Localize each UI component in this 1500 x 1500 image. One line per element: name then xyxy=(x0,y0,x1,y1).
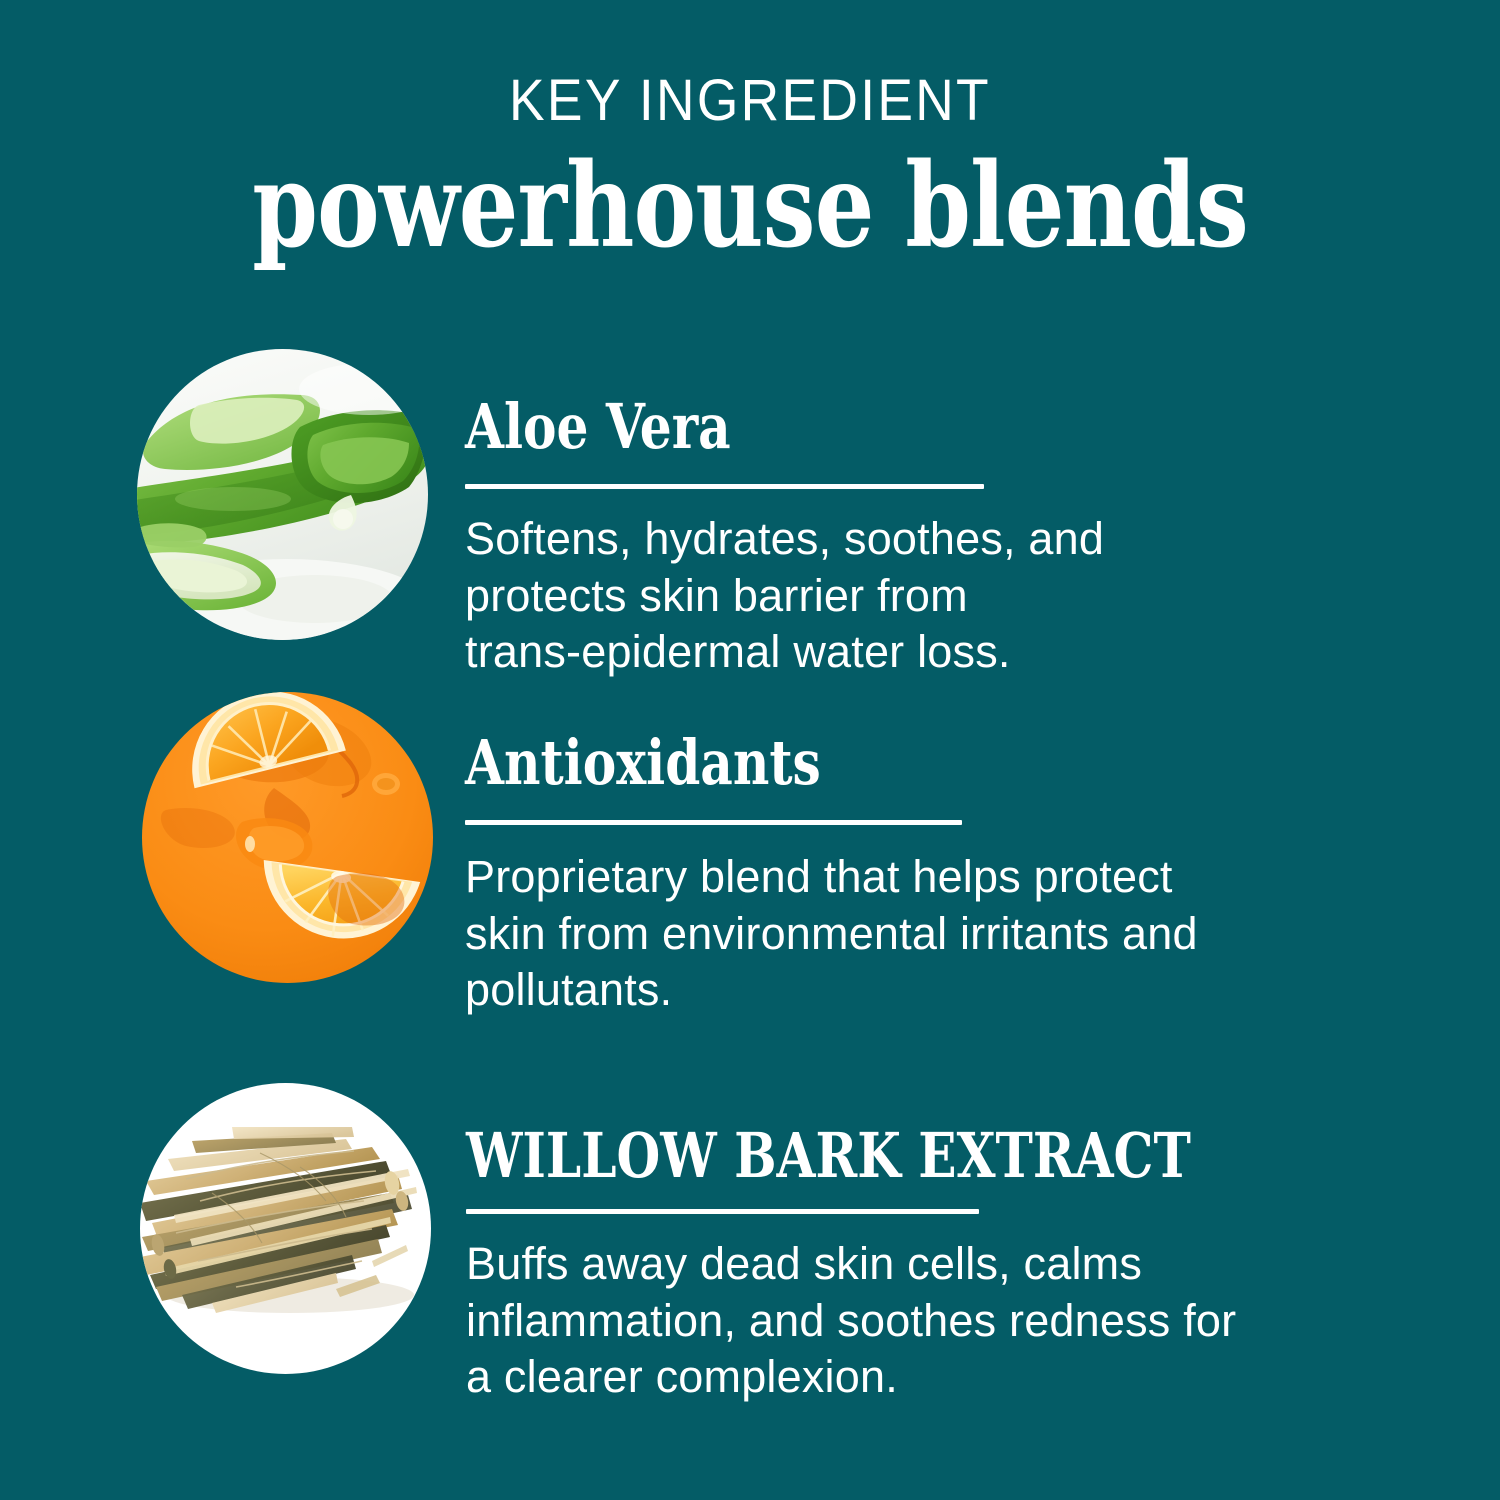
ingredient-description: Proprietary blend that helps protect ski… xyxy=(465,849,1198,1019)
ingredient-title: Aloe Vera xyxy=(465,396,1040,458)
willow-bark-photo xyxy=(140,1083,431,1374)
page-title: powerhouse blends xyxy=(75,146,1425,268)
ingredient-infographic: KEY INGREDIENT powerhouse blends xyxy=(0,0,1500,1500)
ingredient-text-block: Antioxidants Proprietary blend that help… xyxy=(465,692,1198,1019)
ingredient-title: WILLOW BARK EXTRACT xyxy=(466,1125,1191,1187)
citrus-antioxidants-photo xyxy=(142,692,433,983)
header: KEY INGREDIENT powerhouse blends xyxy=(0,72,1500,268)
ingredient-description: Buffs away dead skin cells, calms inflam… xyxy=(466,1236,1271,1406)
ingredient-item-aloe-vera: Aloe Vera Softens, hydrates, soothes, an… xyxy=(137,349,1104,681)
ingredient-text-block: WILLOW BARK EXTRACT Buffs away dead skin… xyxy=(466,1083,1271,1406)
title-divider xyxy=(466,1209,979,1214)
ingredient-title: Antioxidants xyxy=(465,732,1124,794)
ingredient-description: Softens, hydrates, soothes, and protects… xyxy=(465,511,1104,681)
ingredient-item-willow-bark: WILLOW BARK EXTRACT Buffs away dead skin… xyxy=(140,1083,1271,1406)
eyebrow-label: KEY INGREDIENT xyxy=(60,72,1440,130)
ingredient-item-antioxidants: Antioxidants Proprietary blend that help… xyxy=(142,692,1198,1019)
aloe-vera-photo xyxy=(137,349,428,640)
ingredient-text-block: Aloe Vera Softens, hydrates, soothes, an… xyxy=(465,349,1104,681)
title-divider xyxy=(465,484,984,489)
title-divider xyxy=(465,820,962,825)
